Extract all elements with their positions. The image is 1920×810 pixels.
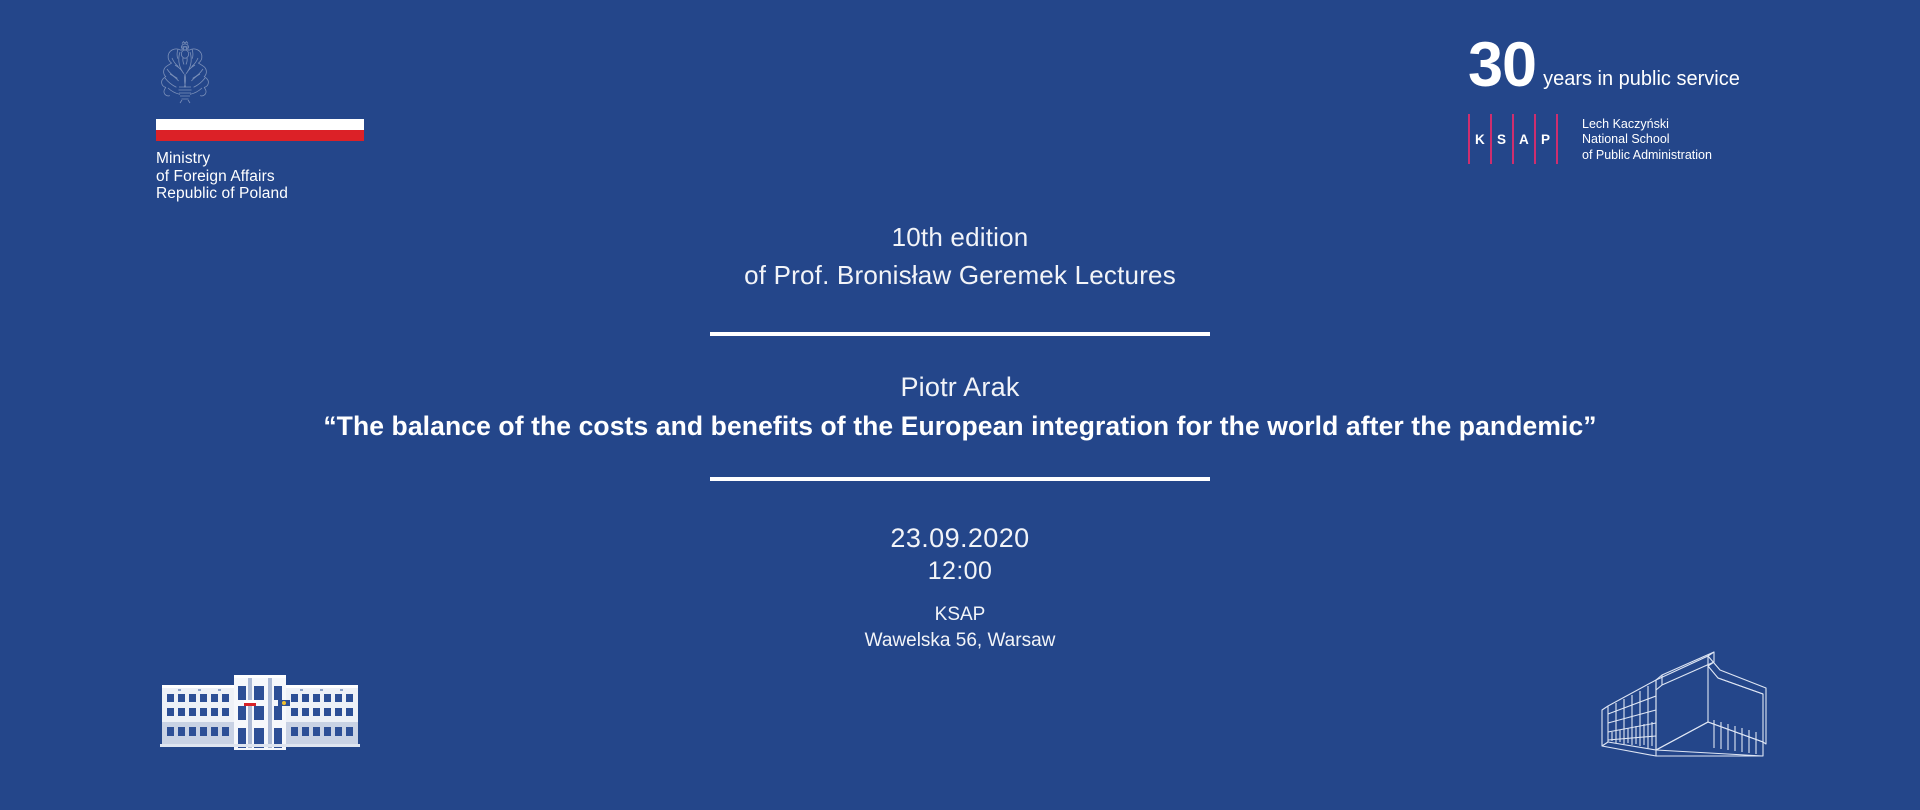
- ministry-name-line-3: Republic of Poland: [156, 185, 366, 203]
- ksap-lockup: K S A P Lech Kaczyński National School o…: [1468, 114, 1768, 164]
- ksap-name-line-1: Lech Kaczyński: [1582, 117, 1712, 133]
- ksap-letter-a: A: [1519, 132, 1529, 147]
- ksap-name-line-2: National School: [1582, 132, 1712, 148]
- ksap-bar-5: [1556, 114, 1558, 164]
- ksap-building-line-drawing: [1590, 644, 1770, 774]
- ministry-name-line-2: of Foreign Affairs: [156, 168, 366, 186]
- ministry-name-line-1: Ministry: [156, 150, 366, 168]
- polish-flag-bar: [156, 119, 364, 141]
- flag-stripe-red: [156, 130, 364, 141]
- lecture-title: “The balance of the costs and benefits o…: [0, 411, 1920, 442]
- ksap-bar-3: [1512, 114, 1514, 164]
- ministry-name: Ministry of Foreign Affairs Republic of …: [156, 150, 366, 203]
- anniversary-number: 30: [1468, 40, 1536, 92]
- anniversary-tagline: years in public service: [1536, 69, 1740, 92]
- ksap-bar-2: [1490, 114, 1492, 164]
- ksap-acronym-mark: K S A P: [1468, 114, 1568, 164]
- polish-eagle-emblem: [158, 38, 212, 104]
- ksap-name-line-3: of Public Administration: [1582, 148, 1712, 164]
- ministry-logo: Ministry of Foreign Affairs Republic of …: [156, 38, 366, 203]
- event-details: 10th edition of Prof. Bronisław Geremek …: [0, 218, 1920, 652]
- event-edition: 10th edition of Prof. Bronisław Geremek …: [0, 218, 1920, 294]
- event-edition-line-2: of Prof. Bronisław Geremek Lectures: [0, 256, 1920, 294]
- divider-bottom: [710, 477, 1210, 481]
- event-poster: Ministry of Foreign Affairs Republic of …: [0, 0, 1920, 810]
- ksap-bar-4: [1534, 114, 1536, 164]
- flag-stripe-white: [156, 119, 364, 130]
- speaker-name: Piotr Arak: [0, 372, 1920, 403]
- mfa-building-illustration: [160, 672, 360, 758]
- venue-name: KSAP: [0, 604, 1920, 626]
- event-date: 23.09.2020: [0, 523, 1920, 554]
- anniversary-lockup: 30 years in public service: [1468, 40, 1768, 92]
- ksap-letter-k: K: [1475, 132, 1485, 147]
- ksap-letter-p: P: [1541, 132, 1551, 147]
- divider-top: [710, 332, 1210, 336]
- event-time: 12:00: [0, 557, 1920, 586]
- ksap-bar-1: [1468, 114, 1470, 164]
- event-edition-line-1: 10th edition: [0, 218, 1920, 256]
- ksap-full-name: Lech Kaczyński National School of Public…: [1568, 114, 1712, 164]
- ksap-logo: 30 years in public service K S A P Lech …: [1468, 40, 1768, 164]
- ksap-letter-s: S: [1497, 132, 1507, 147]
